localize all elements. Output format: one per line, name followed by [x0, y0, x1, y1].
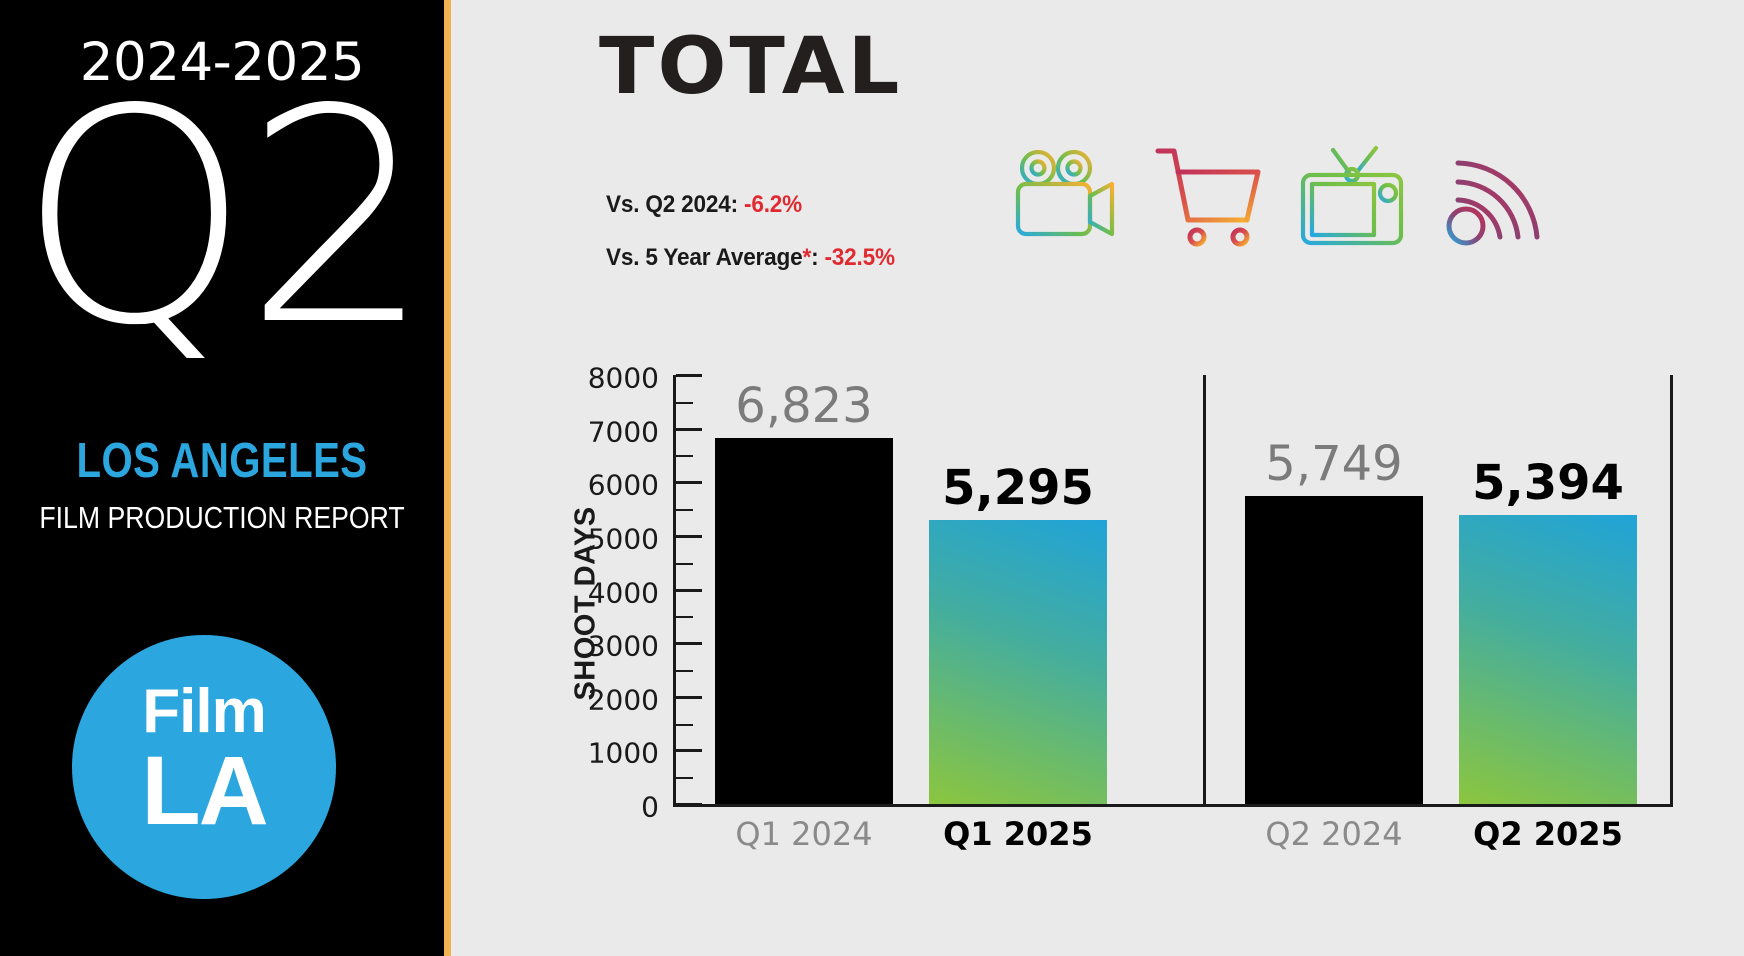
y-tick-major	[676, 589, 702, 592]
y-tick-minor	[676, 616, 693, 618]
bar-q1-2024: 6,823	[715, 438, 893, 804]
broadcast-signal-icon	[1440, 142, 1550, 250]
y-tick-label: 0	[573, 791, 659, 824]
y-tick-major	[676, 428, 702, 431]
y-tick-label: 8000	[573, 362, 659, 395]
y-tick-minor	[676, 455, 693, 457]
y-tick-minor	[676, 670, 693, 672]
film-camera-icon	[1011, 142, 1121, 250]
y-tick-major	[676, 374, 702, 377]
shoot-days-bar-chart: SHOOT DAYS 01000200030004000500060007000…	[501, 375, 1681, 935]
y-axis-tick-labels: 010002000300040005000600070008000	[573, 375, 659, 807]
x-axis-label: Q2 2024	[1245, 815, 1423, 853]
y-tick-label: 1000	[573, 737, 659, 770]
television-icon	[1297, 142, 1407, 250]
category-icon-row	[1011, 142, 1550, 250]
stat-label-2-tail: :	[811, 244, 818, 271]
shopping-cart-icon	[1154, 142, 1264, 250]
stat-vs-five-year-average: Vs. 5 Year Average*: -32.5%	[606, 231, 895, 284]
report-slide: 2024-2025 Q2 LOS ANGELES FILM PRODUCTION…	[0, 0, 1744, 956]
y-tick-minor	[676, 777, 693, 779]
bar-value-label: 5,749	[1245, 436, 1423, 492]
stat-value-2: -32.5%	[824, 244, 894, 271]
stat-label-2: Vs. 5 Year Average	[606, 244, 802, 271]
bar-q2-2025: 5,394	[1459, 515, 1637, 804]
x-axis-label: Q1 2025	[929, 815, 1107, 853]
stat-value-1: -6.2%	[744, 191, 802, 218]
y-tick-minor	[676, 402, 693, 404]
stats-block: Vs. Q2 2024: -6.2% Vs. 5 Year Average*: …	[606, 178, 913, 284]
bar-value-label: 6,823	[715, 378, 893, 434]
filmla-logo: Film LA	[72, 635, 336, 899]
bar-q1-2025: 5,295	[929, 520, 1107, 804]
stat-vs-prior-quarter: Vs. Q2 2024: -6.2%	[606, 178, 895, 231]
accent-stripe	[444, 0, 451, 956]
y-tick-minor	[676, 724, 693, 726]
y-tick-label: 4000	[573, 576, 659, 609]
sidebar: 2024-2025 Q2 LOS ANGELES FILM PRODUCTION…	[0, 0, 444, 956]
main-panel: TOTAL Vs. Q2 2024: -6.2% Vs. 5 Year Aver…	[451, 0, 1744, 956]
bar-value-label: 5,394	[1459, 455, 1637, 511]
y-tick-minor	[676, 563, 693, 565]
bar-q2-2024: 5,749	[1245, 496, 1423, 804]
city-label: LOS ANGELES	[40, 433, 404, 489]
y-tick-major	[676, 535, 702, 538]
y-tick-major	[676, 696, 702, 699]
bar-value-label: 5,295	[929, 460, 1107, 516]
y-tick-minor	[676, 509, 693, 511]
logo-la-text: LA	[72, 742, 336, 839]
x-axis-label: Q1 2024	[715, 815, 893, 853]
y-tick-major	[676, 749, 702, 752]
quarter-label: Q2	[0, 88, 444, 348]
x-axis-line	[673, 804, 1673, 807]
logo-film-text: Film	[72, 681, 336, 743]
stat-footnote-star: *	[802, 244, 811, 271]
y-tick-label: 7000	[573, 415, 659, 448]
report-subtitle: FILM PRODUCTION REPORT	[31, 500, 413, 536]
plot-area: Q1 20246,823Q1 20255,295Q2 20245,749Q2 2…	[673, 375, 1673, 807]
y-tick-label: 5000	[573, 522, 659, 555]
x-axis-label: Q2 2025	[1459, 815, 1637, 853]
y-tick-major	[676, 481, 702, 484]
y-tick-label: 6000	[573, 469, 659, 502]
stat-label-1: Vs. Q2 2024:	[606, 191, 738, 218]
plot-right-edge	[1670, 375, 1673, 807]
page-title: TOTAL	[599, 22, 902, 112]
y-tick-major	[676, 803, 702, 806]
y-tick-label: 2000	[573, 683, 659, 716]
y-tick-major	[676, 642, 702, 645]
group-divider	[1203, 375, 1206, 807]
y-tick-label: 3000	[573, 630, 659, 663]
